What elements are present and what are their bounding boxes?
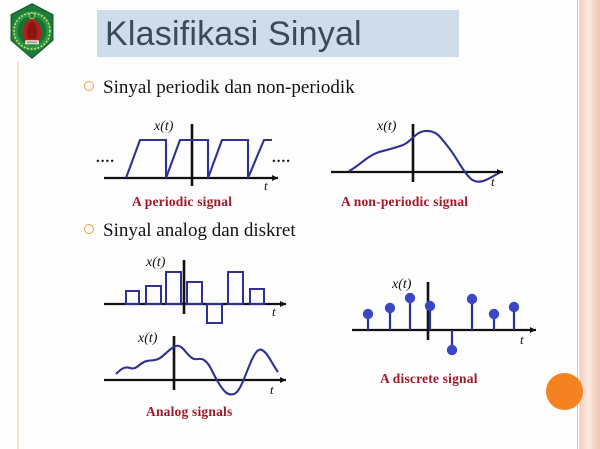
x-axis-arrow: [272, 175, 278, 181]
stem-markers: [363, 293, 519, 355]
orange-circle-decoration: [546, 373, 583, 410]
x-axis-label: t: [270, 382, 274, 397]
ellipsis-left: ....: [96, 150, 115, 167]
caption-discrete-signal: A discrete signal: [380, 371, 478, 387]
x-axis-label: t: [520, 332, 524, 347]
x-axis-arrow: [497, 169, 503, 175]
chart-sampled-bar-signal: x(t) t: [100, 252, 292, 332]
chart-non-periodic-signal: x(t) t: [325, 112, 510, 194]
bar-series: [126, 272, 264, 323]
x-axis-arrow: [280, 301, 286, 307]
y-axis-label: x(t): [145, 255, 166, 270]
page-title: Klasifikasi Sinyal: [105, 12, 505, 56]
bullet-label-analog: Sinyal analog dan diskret: [103, 220, 296, 241]
bullet-item-periodic: Sinyal periodik dan non-periodik: [84, 77, 355, 99]
x-axis-arrow: [280, 377, 286, 383]
periodic-waveform: [126, 140, 272, 178]
bullet-label-periodic: Sinyal periodik dan non-periodik: [103, 77, 355, 98]
caption-analog-signal: Analog signals: [146, 404, 232, 420]
x-axis-arrow: [530, 327, 536, 333]
y-axis-label: x(t): [391, 277, 412, 292]
bullet-marker-icon: [84, 224, 94, 234]
caption-periodic-signal: A periodic signal: [132, 194, 232, 210]
bullet-item-analog: Sinyal analog dan diskret: [84, 220, 296, 242]
chart-periodic-signal: x(t) t: [96, 112, 286, 192]
y-axis-label: x(t): [153, 119, 174, 134]
x-axis-label: t: [491, 174, 495, 189]
non-periodic-waveform: [349, 131, 497, 182]
chart-discrete-signal: x(t) t: [348, 272, 544, 364]
left-accent-rule: [17, 62, 19, 449]
y-axis-label: x(t): [137, 331, 158, 346]
bullet-marker-icon: [84, 81, 94, 91]
slide-canvas: Klasifikasi Sinyal Sinyal periodik dan n…: [0, 0, 600, 449]
analog-waveform: [116, 346, 278, 395]
caption-non-periodic-signal: A non-periodic signal: [341, 194, 468, 210]
chart-analog-signal: x(t) t: [100, 324, 292, 410]
x-axis-label: t: [272, 304, 276, 319]
university-emblem-icon: [3, 2, 61, 60]
y-axis-label: x(t): [376, 119, 397, 134]
ellipsis-right: ....: [272, 150, 291, 167]
x-axis-label: t: [264, 178, 268, 192]
